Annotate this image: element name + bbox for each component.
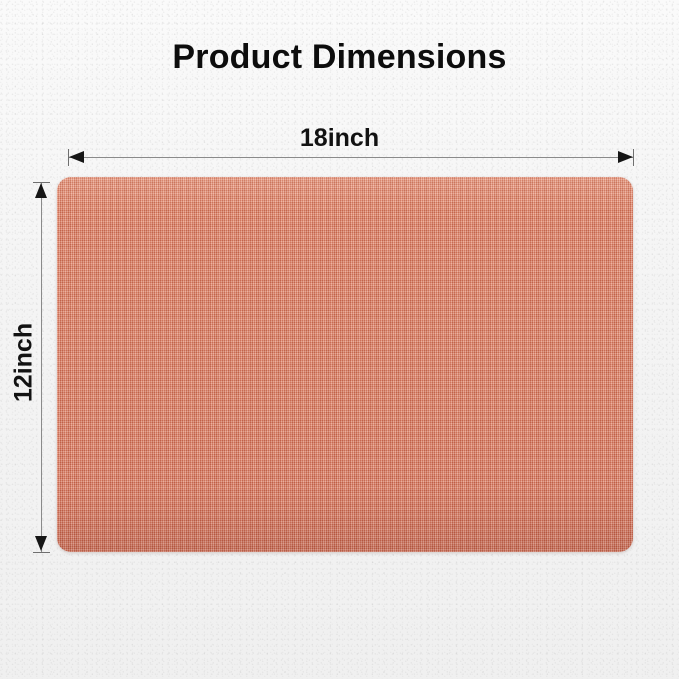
- arrow-up-icon: [35, 183, 47, 198]
- height-dimension-label: 12inch: [10, 298, 39, 428]
- height-extension-line-bottom: [33, 552, 50, 553]
- product-image-placemat: [57, 177, 633, 552]
- arrow-left-icon: [69, 151, 84, 163]
- width-extension-line-right: [633, 149, 634, 166]
- height-dimension-line: [41, 182, 42, 552]
- width-dimension-label: 18inch: [0, 124, 679, 153]
- product-edge-shading: [57, 177, 633, 552]
- arrow-right-icon: [618, 151, 633, 163]
- product-dimensions-infographic: Product Dimensions 18inch 12inch: [0, 0, 679, 679]
- width-dimension-line: [68, 157, 633, 158]
- arrow-down-icon: [35, 536, 47, 551]
- page-title: Product Dimensions: [0, 38, 679, 77]
